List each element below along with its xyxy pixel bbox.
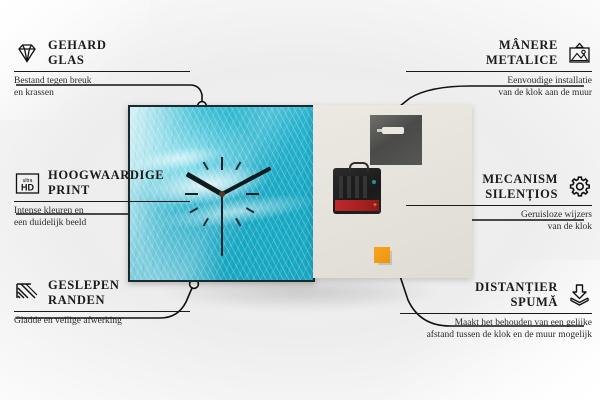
feature-subtitle: Gladde en veilige afwerking: [14, 315, 194, 327]
feature-title: GEHARD GLAS: [48, 38, 106, 68]
feature-header: GEHARD GLAS: [14, 38, 194, 68]
feature-divider: [406, 71, 592, 72]
feature-header: MECANISM SILENȚIOS: [402, 172, 592, 202]
feature-divider: [14, 201, 190, 202]
svg-text:HD: HD: [21, 182, 34, 192]
clock-second-hand: [221, 194, 223, 256]
hanger-slot: [382, 127, 404, 134]
feature-subtitle: Geruisloze wijzers van de klok: [402, 209, 592, 233]
foam-spacer-part: [374, 247, 390, 263]
feature-foam-spacer: DISTANȚIER SPUMĂ Maakt het behouden van …: [396, 280, 592, 341]
mechanism-loop: [349, 162, 369, 172]
feature-divider: [400, 313, 592, 314]
feature-hd-print: ultra HD HOOGWAARDIGE PRINT Intense kleu…: [14, 168, 194, 229]
feature-silent-mechanism: MECANISM SILENȚIOS Geruisloze wijzers va…: [402, 172, 592, 233]
quartz-mechanism-part: +: [333, 168, 381, 214]
feature-subtitle: Eenvoudige installatie van de klok aan d…: [402, 75, 592, 99]
feature-subtitle: Maakt het behouden van een gelijke afsta…: [396, 317, 592, 341]
mechanism-label-strip: +: [335, 200, 379, 211]
diamond-icon: [14, 41, 40, 65]
mechanism-body-detail: [339, 176, 369, 198]
feature-divider: [14, 311, 190, 312]
metal-hanger-part: [370, 115, 422, 165]
feature-header: DISTANȚIER SPUMĂ: [396, 280, 592, 310]
feature-subtitle: Bestand tegen breuk en krassen: [14, 75, 194, 99]
feature-divider: [14, 71, 190, 72]
feature-title: DISTANȚIER SPUMĂ: [475, 280, 558, 310]
feature-header: ultra HD HOOGWAARDIGE PRINT: [14, 168, 194, 198]
clock-center-cap: [219, 191, 225, 197]
down-arrow-layer-icon: [566, 283, 592, 307]
bevelled-edges-icon: [14, 281, 40, 305]
feature-metal-handles: MÂNERE METALICE Eenvoudige installatie v…: [402, 38, 592, 99]
feature-title: HOOGWAARDIGE PRINT: [48, 168, 164, 198]
mechanism-indicator: [372, 180, 376, 184]
feature-header: GESLEPEN RANDEN: [14, 278, 194, 308]
ultra-hd-icon: ultra HD: [14, 171, 40, 195]
infographic-canvas: + GEHARD GLAS Bestand tegen breuk: [0, 0, 600, 400]
feature-subtitle: Intense kleuren en een duidelijk beeld: [14, 205, 194, 229]
feature-title: GESLEPEN RANDEN: [48, 278, 120, 308]
feature-title: MECANISM SILENȚIOS: [482, 172, 558, 202]
feature-divider: [406, 205, 592, 206]
framed-picture-icon: [566, 41, 592, 65]
feature-header: MÂNERE METALICE: [402, 38, 592, 68]
feature-tempered-glass: GEHARD GLAS Bestand tegen breuk en krass…: [14, 38, 194, 99]
feature-title: MÂNERE METALICE: [486, 38, 558, 68]
gear-icon: [566, 175, 592, 199]
feature-polished-edges: GESLEPEN RANDEN Gladde en veilige afwerk…: [14, 278, 194, 327]
